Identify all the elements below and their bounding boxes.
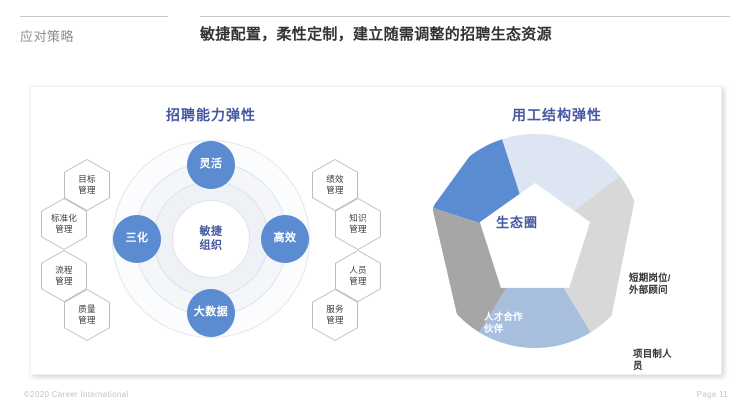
left-panel: 招聘能力弹性 目标 管理 标准化 管理 流程 管理 质量 管理 绩效 管理 知识…	[31, 87, 391, 376]
segment-label-project-based: 项目制人 员	[633, 349, 672, 374]
bubble-big-data[interactable]: 大数据	[187, 289, 235, 337]
header-rule-right	[200, 16, 730, 17]
donut-center-label: 生态圈	[496, 212, 538, 231]
agility-ring-diagram: 敏捷 组织 灵活 高效 大数据 三化	[111, 139, 311, 339]
segment-label-short-term: 短期岗位/ 外部顾问	[629, 273, 671, 298]
right-panel-title: 用工结构弹性	[391, 105, 723, 125]
slide-root: 应对策略 敏捷配置，柔性定制，建立随需调整的招聘生态资源 招聘能力弹性 目标 管…	[0, 0, 750, 419]
bubble-flexible[interactable]: 灵活	[187, 141, 235, 189]
page-title: 敏捷配置，柔性定制，建立随需调整的招聘生态资源	[200, 23, 552, 44]
segment-label-core-staff: 自有核心 人员	[513, 237, 552, 262]
footer-page-number: Page 11	[697, 390, 728, 399]
bubble-three-izations[interactable]: 三化	[113, 215, 161, 263]
segment-label-talent-partners: 人才合作 伙伴	[484, 312, 523, 337]
segment-label-shared-center: 共享中心	[543, 392, 582, 404]
header-rule-left	[20, 16, 168, 17]
header-kicker: 应对策略	[20, 26, 74, 45]
footer-copyright: ©2020 Career International	[24, 390, 128, 399]
right-panel: 用工结构弹性	[391, 87, 723, 376]
bubble-efficient[interactable]: 高效	[261, 215, 309, 263]
core-label: 敏捷 组织	[176, 225, 246, 253]
content-card: 招聘能力弹性 目标 管理 标准化 管理 流程 管理 质量 管理 绩效 管理 知识…	[30, 86, 722, 375]
left-panel-title: 招聘能力弹性	[31, 105, 391, 125]
